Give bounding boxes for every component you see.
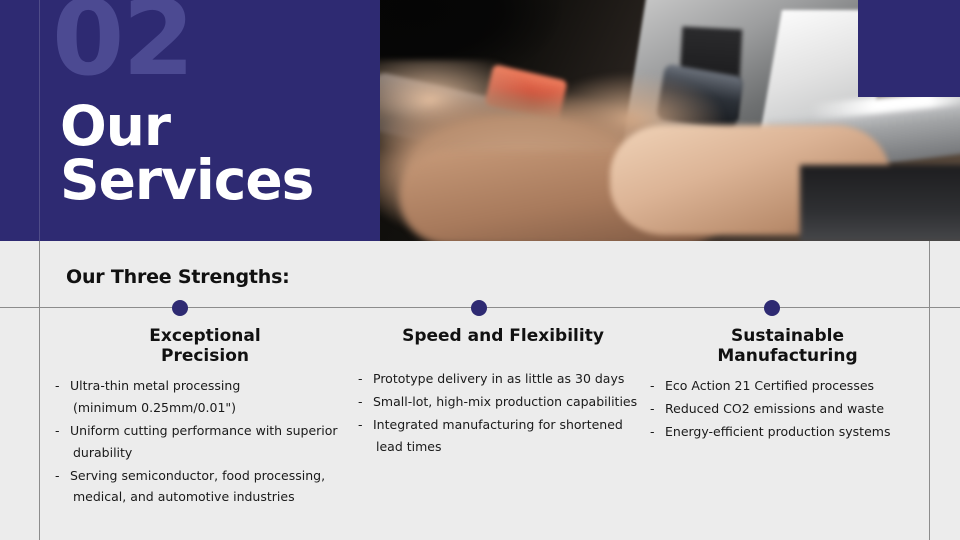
divider-vertical-left xyxy=(39,241,40,540)
list-item: - Energy-efficient production systems xyxy=(650,421,925,443)
strength-bullets-2: - Prototype delivery in as little as 30 … xyxy=(358,368,648,458)
strength-bullets-3: - Eco Action 21 Certified processes - Re… xyxy=(650,375,925,443)
bullet-text: Small-lot, high-mix production capabilit… xyxy=(373,394,637,409)
page-title-line-2: Services xyxy=(60,154,370,208)
list-item: - Eco Action 21 Certified processes xyxy=(650,375,925,397)
bullet-text: Serving semiconductor, food processing, xyxy=(70,468,325,483)
bullet-text: Ultra-thin metal processing xyxy=(70,378,240,393)
slide: 02 Our Services Our Three Strengths: Exc… xyxy=(0,0,960,540)
strength-title-1: Exceptional Precision xyxy=(55,326,355,366)
strength-title-3-line-2: Manufacturing xyxy=(650,346,925,366)
list-item: - Serving semiconductor, food processing… xyxy=(55,465,355,509)
list-item: - Uniform cutting performance with super… xyxy=(55,420,355,464)
bullet-marker: - xyxy=(650,375,655,397)
bullet-continuation: medical, and automotive industries xyxy=(70,486,355,508)
bullet-marker: - xyxy=(55,375,60,397)
strength-title-1-line-1: Exceptional xyxy=(55,326,355,346)
title-panel-rule xyxy=(39,0,40,241)
bullet-marker: - xyxy=(358,414,363,436)
strength-title-1-line-2: Precision xyxy=(55,346,355,366)
timeline-dot-1 xyxy=(172,300,188,316)
bullet-text: Prototype delivery in as little as 30 da… xyxy=(373,371,624,386)
section-heading: Our Three Strengths: xyxy=(66,266,290,288)
bullet-marker: - xyxy=(358,391,363,413)
bullet-marker: - xyxy=(55,465,60,487)
strength-column-2: Speed and Flexibility - Prototype delive… xyxy=(358,326,648,459)
list-item: - Ultra-thin metal processing (minimum 0… xyxy=(55,375,355,419)
bullet-text: Reduced CO2 emissions and waste xyxy=(665,401,884,416)
section-number: 02 xyxy=(52,0,193,90)
corner-accent-block xyxy=(858,0,960,97)
bullet-text: Eco Action 21 Certified processes xyxy=(665,378,874,393)
strength-column-3: Sustainable Manufacturing - Eco Action 2… xyxy=(650,326,925,444)
bullet-marker: - xyxy=(650,398,655,420)
strength-column-1: Exceptional Precision - Ultra-thin metal… xyxy=(55,326,355,509)
bullet-continuation: lead times xyxy=(373,436,648,458)
photo-machine-base xyxy=(800,165,960,241)
bullet-text: Energy-efficient production systems xyxy=(665,424,890,439)
bullet-continuation: (minimum 0.25mm/0.01") xyxy=(70,397,355,419)
page-title-line-1: Our xyxy=(60,100,370,154)
strength-title-3: Sustainable Manufacturing xyxy=(650,326,925,366)
list-item: - Integrated manufacturing for shortened… xyxy=(358,414,648,458)
timeline-dot-3 xyxy=(764,300,780,316)
list-item: - Small-lot, high-mix production capabil… xyxy=(358,391,648,413)
bullet-text: Integrated manufacturing for shortened xyxy=(373,417,623,432)
slide-header: 02 Our Services xyxy=(0,0,960,241)
timeline-dot-2 xyxy=(471,300,487,316)
strength-title-2-line-1: Speed and Flexibility xyxy=(358,326,648,346)
bullet-text: Uniform cutting performance with superio… xyxy=(70,423,338,438)
bullet-marker: - xyxy=(55,420,60,442)
bullet-marker: - xyxy=(650,421,655,443)
page-title: Our Services xyxy=(60,100,370,208)
strength-title-3-line-1: Sustainable xyxy=(650,326,925,346)
strength-bullets-1: - Ultra-thin metal processing (minimum 0… xyxy=(55,375,355,508)
bullet-continuation: durability xyxy=(70,442,355,464)
strength-title-2: Speed and Flexibility xyxy=(358,326,648,346)
slide-body: Our Three Strengths: Exceptional Precisi… xyxy=(0,241,960,540)
bullet-marker: - xyxy=(358,368,363,390)
title-panel: 02 Our Services xyxy=(0,0,380,241)
list-item: - Prototype delivery in as little as 30 … xyxy=(358,368,648,390)
divider-vertical-right xyxy=(929,241,930,540)
list-item: - Reduced CO2 emissions and waste xyxy=(650,398,925,420)
